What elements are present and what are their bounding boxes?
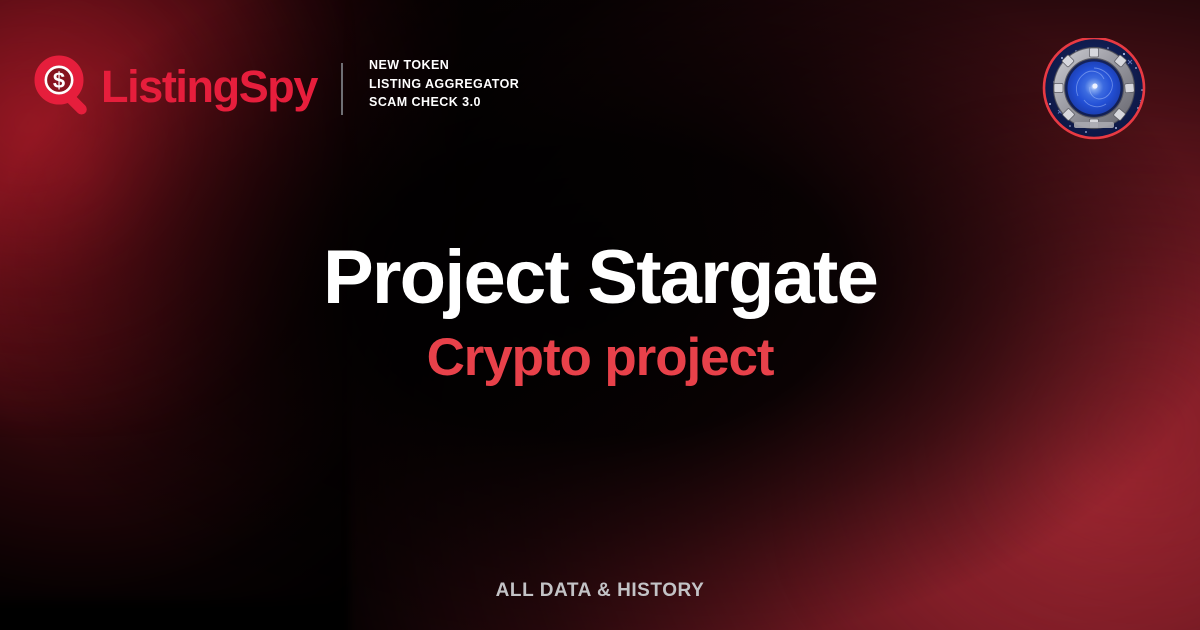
page-subtitle: Crypto project xyxy=(60,329,1140,387)
hero-content: Project Stargate Crypto project xyxy=(0,238,1200,387)
tagline-line-3: SCAM CHECK 3.0 xyxy=(369,94,519,111)
brand-tagline: NEW TOKEN LISTING AGGREGATOR SCAM CHECK … xyxy=(369,57,519,111)
brand-wordmark-spy: Spy xyxy=(239,61,317,112)
tagline-line-1: NEW TOKEN xyxy=(369,57,519,74)
svg-text:$: $ xyxy=(53,68,65,93)
magnifier-dollar-icon: $ xyxy=(34,55,96,117)
header-divider xyxy=(341,63,343,115)
page-footer: ALL DATA & HISTORY xyxy=(0,580,1200,602)
brand-logo[interactable]: $ ListingSpy xyxy=(34,55,317,117)
tagline-line-2: LISTING AGGREGATOR xyxy=(369,76,519,93)
footer-caption: ALL DATA & HISTORY xyxy=(496,580,705,601)
stargate-portal-icon[interactable] xyxy=(1024,38,1164,142)
brand-wordmark-listing: Listing xyxy=(101,61,239,112)
page-title: Project Stargate xyxy=(60,238,1140,319)
page-header: $ ListingSpy NEW TOKEN LISTING AGGREGATO… xyxy=(0,0,1200,176)
brand-wordmark: ListingSpy xyxy=(101,64,317,109)
